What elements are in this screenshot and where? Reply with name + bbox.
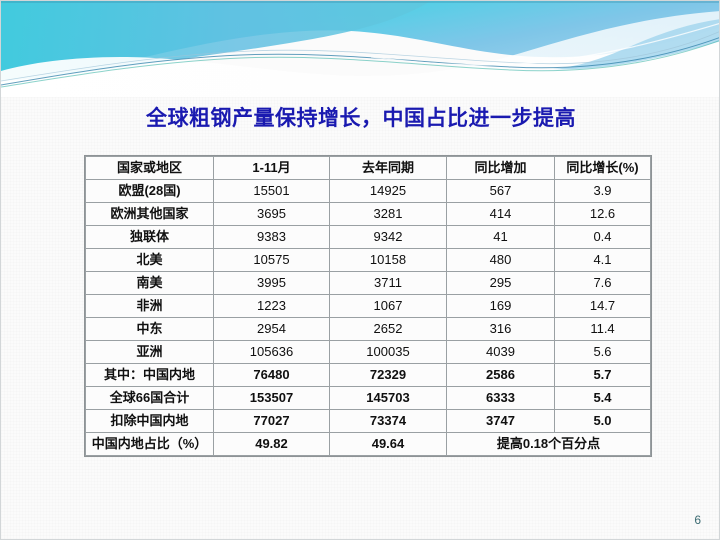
cell-last-year: 3711	[330, 272, 447, 295]
table-row: 扣除中国内地770277337437475.0	[86, 410, 651, 433]
column-header: 去年同期	[330, 157, 447, 180]
column-header: 1-11月	[214, 157, 330, 180]
row-label: 欧盟(28国)	[86, 180, 214, 203]
cell-last-year: 10158	[330, 249, 447, 272]
decorative-wave-banner	[1, 1, 720, 97]
cell-increase: 316	[447, 318, 555, 341]
table-row: 亚洲10563610003540395.6	[86, 341, 651, 364]
table-summary-row: 中国内地占比（%）49.8249.64提高0.18个百分点	[86, 433, 651, 456]
cell-current-period: 15501	[214, 180, 330, 203]
column-header: 同比增加	[447, 157, 555, 180]
row-label: 全球66国合计	[86, 387, 214, 410]
cell-growth-pct: 3.9	[555, 180, 651, 203]
table-row: 中东2954265231611.4	[86, 318, 651, 341]
page-title: 全球粗钢产量保持增长，中国占比进一步提高	[1, 102, 720, 132]
cell-current-period: 49.82	[214, 433, 330, 456]
cell-growth-pct: 5.6	[555, 341, 651, 364]
cell-growth-pct: 14.7	[555, 295, 651, 318]
cell-growth-pct: 5.4	[555, 387, 651, 410]
cell-growth-pct: 5.0	[555, 410, 651, 433]
row-label: 扣除中国内地	[86, 410, 214, 433]
cell-increase: 295	[447, 272, 555, 295]
row-label: 其中：中国内地	[86, 364, 214, 387]
cell-increase: 169	[447, 295, 555, 318]
cell-current-period: 1223	[214, 295, 330, 318]
cell-current-period: 2954	[214, 318, 330, 341]
cell-last-year: 73374	[330, 410, 447, 433]
row-label: 南美	[86, 272, 214, 295]
cell-last-year: 72329	[330, 364, 447, 387]
row-label: 亚洲	[86, 341, 214, 364]
cell-growth-pct: 7.6	[555, 272, 651, 295]
table-row: 全球66国合计15350714570363335.4	[86, 387, 651, 410]
cell-increase: 480	[447, 249, 555, 272]
cell-growth-pct: 0.4	[555, 226, 651, 249]
cell-growth-pct: 12.6	[555, 203, 651, 226]
cell-last-year: 14925	[330, 180, 447, 203]
cell-current-period: 153507	[214, 387, 330, 410]
row-label: 独联体	[86, 226, 214, 249]
cell-last-year: 2652	[330, 318, 447, 341]
cell-increase: 6333	[447, 387, 555, 410]
cell-current-period: 77027	[214, 410, 330, 433]
cell-increase: 414	[447, 203, 555, 226]
table-row: 欧洲其他国家3695328141412.6	[86, 203, 651, 226]
cell-growth-pct: 5.7	[555, 364, 651, 387]
page-number: 6	[694, 513, 701, 527]
cell-last-year: 145703	[330, 387, 447, 410]
cell-last-year: 9342	[330, 226, 447, 249]
cell-last-year: 1067	[330, 295, 447, 318]
cell-increase: 2586	[447, 364, 555, 387]
cell-current-period: 9383	[214, 226, 330, 249]
cell-increase: 3747	[447, 410, 555, 433]
table-header-row: 国家或地区1-11月去年同期同比增加同比增长(%)	[86, 157, 651, 180]
table-row: 欧盟(28国)15501149255673.9	[86, 180, 651, 203]
table-row: 独联体93839342410.4	[86, 226, 651, 249]
row-label: 北美	[86, 249, 214, 272]
column-header: 同比增长(%)	[555, 157, 651, 180]
table-row: 南美399537112957.6	[86, 272, 651, 295]
cell-last-year: 3281	[330, 203, 447, 226]
steel-production-table: 国家或地区1-11月去年同期同比增加同比增长(%)欧盟(28国)15501149…	[85, 156, 651, 456]
column-header: 国家或地区	[86, 157, 214, 180]
slide-canvas: 全球粗钢产量保持增长，中国占比进一步提高 国家或地区1-11月去年同期同比增加同…	[0, 0, 720, 540]
steel-production-table-container: 国家或地区1-11月去年同期同比增加同比增长(%)欧盟(28国)15501149…	[85, 156, 650, 456]
cell-increase: 567	[447, 180, 555, 203]
table-row: 其中：中国内地764807232925865.7	[86, 364, 651, 387]
row-label: 非洲	[86, 295, 214, 318]
cell-growth-pct: 11.4	[555, 318, 651, 341]
cell-current-period: 105636	[214, 341, 330, 364]
table-row: 非洲1223106716914.7	[86, 295, 651, 318]
cell-summary-note: 提高0.18个百分点	[447, 433, 651, 456]
cell-current-period: 76480	[214, 364, 330, 387]
cell-increase: 4039	[447, 341, 555, 364]
table-row: 北美10575101584804.1	[86, 249, 651, 272]
row-label: 中东	[86, 318, 214, 341]
cell-increase: 41	[447, 226, 555, 249]
cell-last-year: 100035	[330, 341, 447, 364]
cell-growth-pct: 4.1	[555, 249, 651, 272]
cell-current-period: 3995	[214, 272, 330, 295]
row-label: 欧洲其他国家	[86, 203, 214, 226]
cell-current-period: 3695	[214, 203, 330, 226]
row-label: 中国内地占比（%）	[86, 433, 214, 456]
cell-current-period: 10575	[214, 249, 330, 272]
cell-last-year: 49.64	[330, 433, 447, 456]
